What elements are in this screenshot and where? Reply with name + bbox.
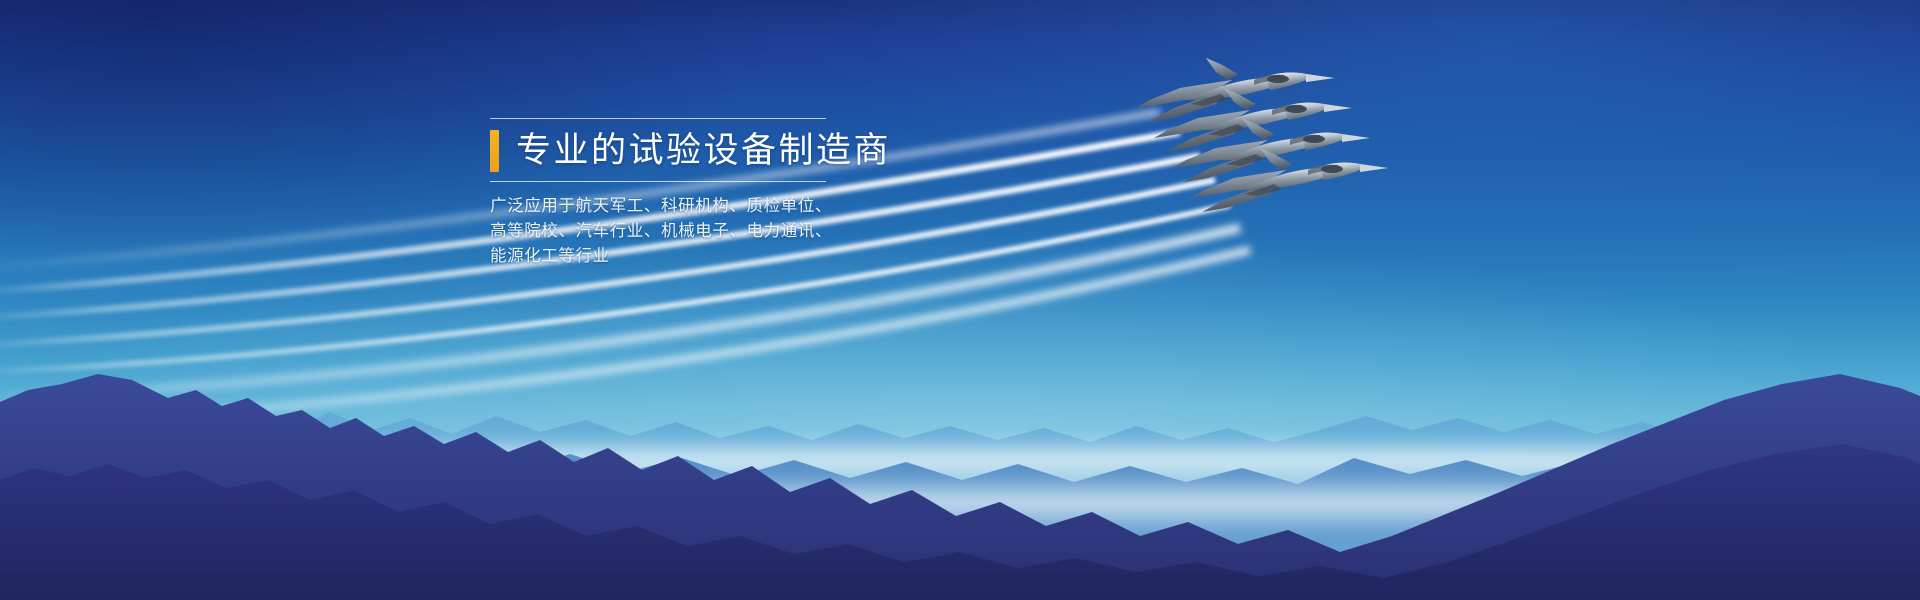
divider-top [490,118,826,119]
mountain-range-silhouette [0,340,1920,600]
headline-row: 专业的试验设备制造商 [392,130,1012,172]
fighter-jet-formation [1120,38,1520,288]
subtitle-line: 广泛应用于航天军工、科研机构、质检单位、 [490,193,1012,218]
accent-bar [490,130,499,172]
subtitle-block: 广泛应用于航天军工、科研机构、质检单位、 高等院校、汽车行业、机械电子、电力通讯… [490,193,1012,268]
hero-banner: 专业的试验设备制造商 广泛应用于航天军工、科研机构、质检单位、 高等院校、汽车行… [0,0,1920,600]
subtitle-line: 高等院校、汽车行业、机械电子、电力通讯、 [490,218,1012,243]
banner-copy-block: 专业的试验设备制造商 广泛应用于航天军工、科研机构、质检单位、 高等院校、汽车行… [392,118,1012,268]
divider-bottom [490,181,826,182]
page-title: 专业的试验设备制造商 [516,134,891,169]
subtitle-line: 能源化工等行业 [490,243,1012,268]
